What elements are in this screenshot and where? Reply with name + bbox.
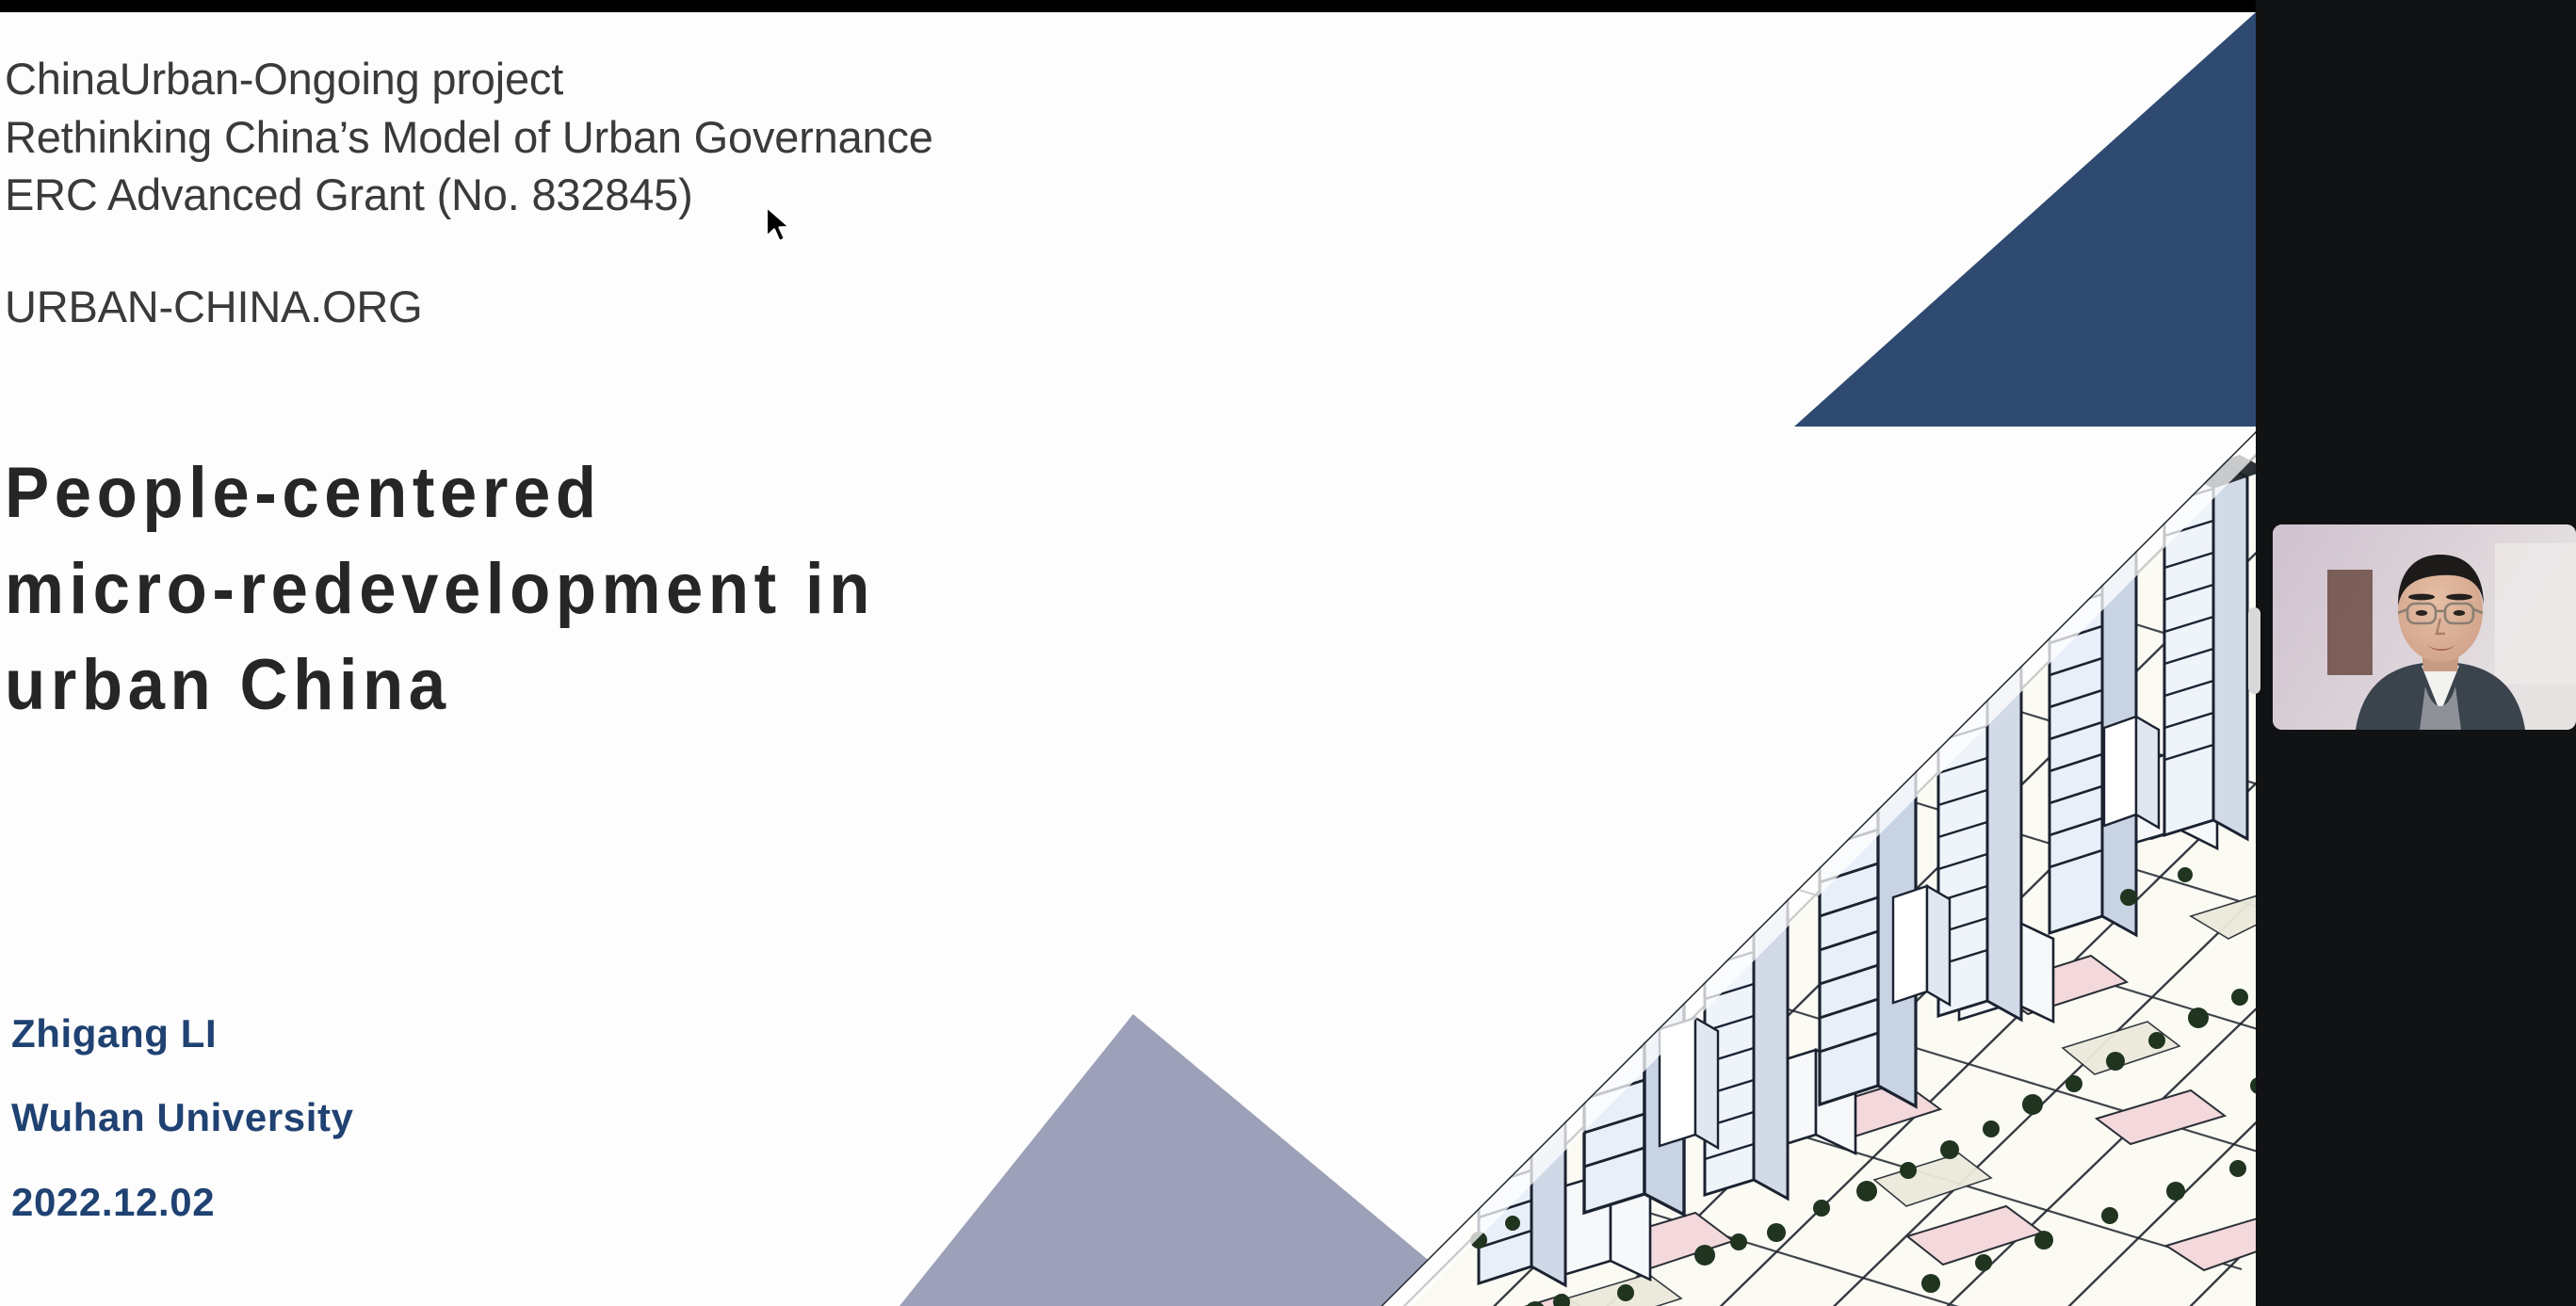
project-meta-text: ChinaUrban-Ongoing project Rethinking Ch… — [5, 50, 933, 224]
author-affiliation: Wuhan University — [11, 1075, 354, 1159]
presentation-date: 2022.12.02 — [11, 1160, 354, 1244]
author-name: Zhigang LI — [11, 992, 354, 1075]
letterbox-top-bar — [0, 0, 2256, 12]
axonometric-city-drawing — [951, 238, 2256, 1306]
page-title: People-centered micro-redevelopment in u… — [5, 445, 1038, 733]
presentation-slide[interactable]: ChinaUrban-Ongoing project Rethinking Ch… — [0, 12, 2256, 1306]
project-website: URBAN-CHINA.ORG — [5, 281, 423, 332]
speaker-webcam-tile[interactable] — [2273, 524, 2576, 730]
panel-drag-handle[interactable] — [2248, 607, 2260, 694]
author-block: Zhigang LI Wuhan University 2022.12.02 — [11, 992, 354, 1244]
screen-root: ChinaUrban-Ongoing project Rethinking Ch… — [0, 0, 2576, 1306]
video-call-rail — [2256, 0, 2576, 1306]
